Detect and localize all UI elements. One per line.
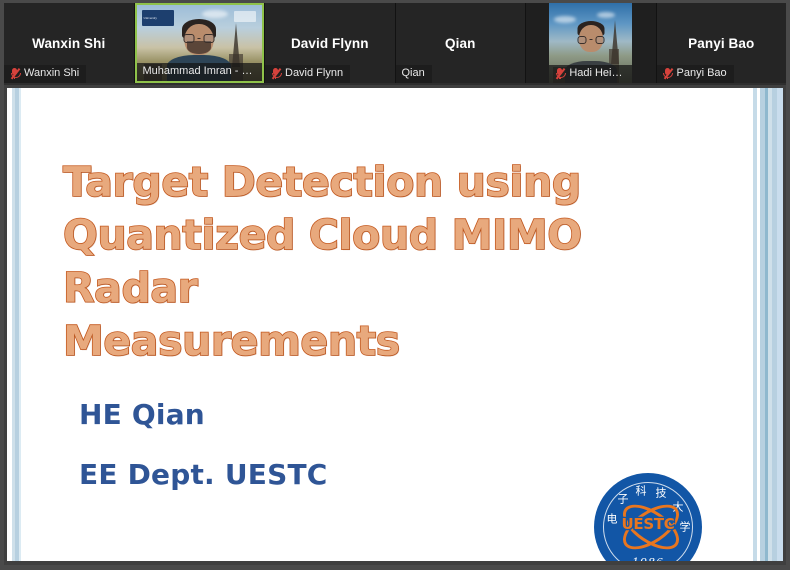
participant-tile-david-flynn[interactable]: David Flynn David Flynn xyxy=(265,3,396,83)
participant-name-chip: Muhammad Imran - Uni... xyxy=(137,63,263,81)
logo-wordmark: UESTC xyxy=(622,515,675,533)
logo-atom-symbol: UESTC xyxy=(617,504,679,544)
participant-chip-name: Panyi Bao xyxy=(677,67,727,80)
participant-name-chip: Qian xyxy=(396,65,432,83)
slide-title-line: Measurements xyxy=(63,315,723,368)
participant-chip-name: Muhammad Imran - Uni... xyxy=(143,65,256,78)
participant-tile-panyi-bao[interactable]: Panyi Bao Panyi Bao xyxy=(657,3,787,83)
participant-tile-wanxin-shi[interactable]: Wanxin Shi Wanxin Shi xyxy=(4,3,135,83)
participant-name-chip: Hadi Heidari xyxy=(549,65,632,83)
mic-muted-icon xyxy=(663,68,672,80)
slide-title-line: Quantized Cloud MIMO Radar xyxy=(63,209,723,315)
participant-filmstrip: Wanxin Shi Wanxin Shi xyxy=(4,3,786,85)
participant-chip-name: Hadi Heidari xyxy=(569,67,625,80)
participant-display-name: David Flynn xyxy=(287,36,373,51)
mic-muted-icon xyxy=(271,68,280,80)
mic-muted-icon xyxy=(555,68,564,80)
participant-chip-name: Qian xyxy=(402,67,425,80)
participant-tile-qian[interactable]: Qian Qian xyxy=(396,3,527,83)
shared-screen-stage: Target Detection using Quantized Cloud M… xyxy=(4,85,786,565)
slide-subtitle: HE Qian EE Dept. UESTC xyxy=(79,385,328,505)
slide-title-line: Target Detection using xyxy=(63,156,723,209)
participant-tile-muhammad-imran[interactable]: University Muhammad Imran - Uni... xyxy=(135,3,266,83)
participant-display-name: Panyi Bao xyxy=(684,36,758,51)
participant-video-feed: Hadi Heidari xyxy=(549,3,632,83)
presentation-slide: Target Detection using Quantized Cloud M… xyxy=(7,88,783,561)
mic-muted-icon xyxy=(10,68,19,80)
slide-decoration-stripes-right xyxy=(751,88,783,561)
participant-video-feed: University Muhammad Imran - Uni... xyxy=(135,3,265,83)
participant-tile-hadi-heidari[interactable]: Hadi Heidari xyxy=(526,3,657,83)
participant-chip-name: David Flynn xyxy=(285,67,343,80)
participant-display-name: Wanxin Shi xyxy=(28,36,109,51)
slide-decoration-stripes-left xyxy=(7,88,33,561)
participant-name-chip: David Flynn xyxy=(265,65,350,83)
slide-subtitle-line: EE Dept. UESTC xyxy=(79,445,328,505)
slide-subtitle-line: HE Qian xyxy=(79,385,328,445)
participant-display-name: Qian xyxy=(441,36,479,51)
participant-chip-name: Wanxin Shi xyxy=(24,67,79,80)
video-corner-watermark xyxy=(234,11,256,22)
participant-name-chip: Panyi Bao xyxy=(657,65,734,83)
participant-name-chip: Wanxin Shi xyxy=(4,65,86,83)
slide-title: Target Detection using Quantized Cloud M… xyxy=(63,156,723,368)
uestc-logo: 电 子 科 技 大 学 UESTC 1986 xyxy=(594,473,702,561)
zoom-meeting-window: Wanxin Shi Wanxin Shi xyxy=(0,0,790,570)
university-of-glasgow-logo: University xyxy=(142,10,174,26)
logo-founding-year: 1986 xyxy=(594,556,702,561)
